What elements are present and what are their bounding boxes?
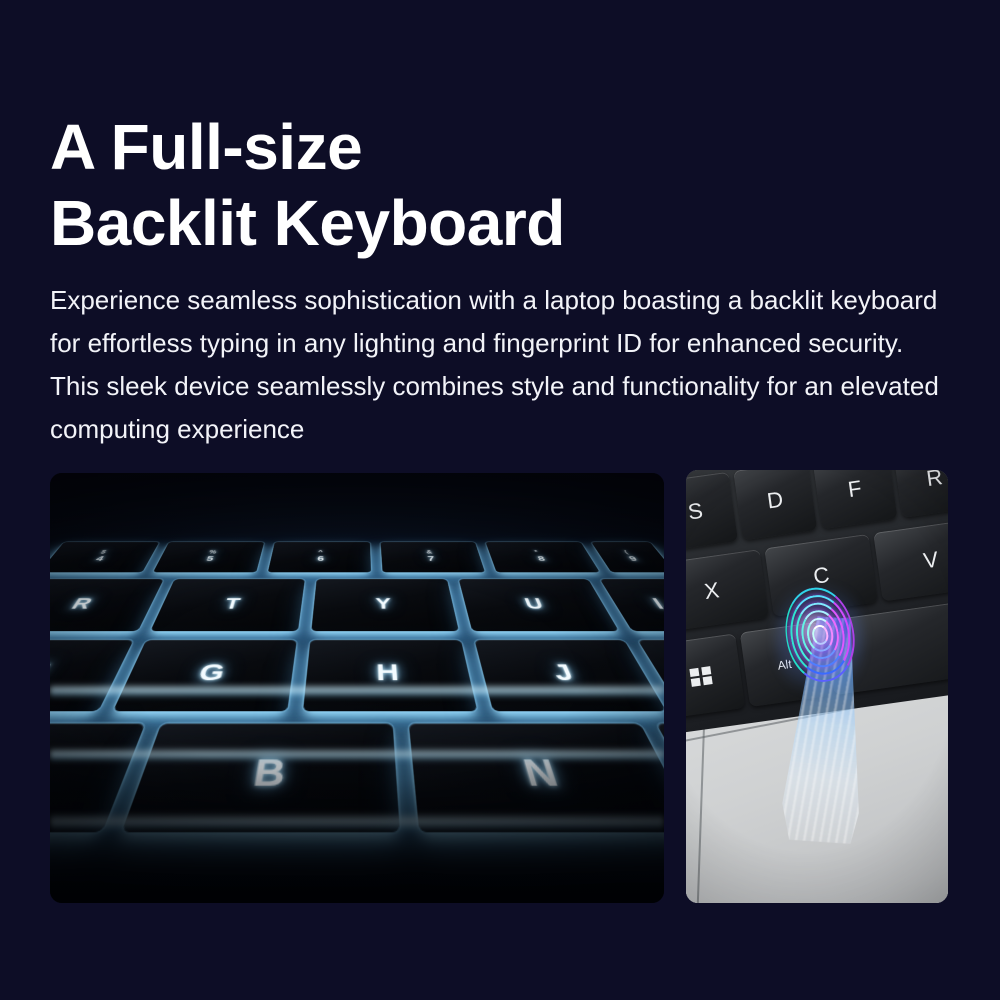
key-glyph: X: [703, 579, 721, 603]
fp-key-d: D: [732, 470, 816, 540]
keyboard-number-row: $4 %5 ^6 &7: [50, 541, 664, 572]
key-u: U: [458, 579, 619, 631]
key-glyph: C: [811, 563, 830, 587]
key-base-symbol: 5: [205, 555, 215, 563]
trackpad-seam-line: [693, 724, 704, 903]
page-title: A Full-size Backlit Keyboard: [50, 109, 810, 261]
key-glyph: S: [686, 500, 704, 524]
key-glyph: T: [223, 596, 242, 611]
keyboard-home-letter-row: F G H J K: [50, 640, 664, 711]
key-m: M: [657, 723, 664, 832]
key-b: B: [122, 723, 401, 832]
key-f: F: [50, 640, 133, 711]
fp-key-v: V: [873, 518, 948, 602]
key-glyph: (9: [624, 550, 639, 562]
key-glyph: U: [522, 596, 545, 611]
key-shifted-symbol: ^: [318, 550, 325, 554]
key-glyph: I: [649, 596, 664, 611]
key-h: H: [303, 640, 477, 711]
key-5: %5: [153, 541, 264, 572]
key-7: &7: [380, 541, 485, 572]
key-glyph: H: [376, 661, 400, 685]
key-glyph: J: [550, 661, 577, 685]
fp-key-f: F: [812, 470, 896, 529]
key-y: Y: [311, 579, 458, 631]
key-9: (9: [591, 541, 664, 572]
key-g: G: [114, 640, 297, 711]
key-glyph: B: [251, 754, 288, 793]
key-j: J: [474, 640, 664, 711]
key-base-symbol: 7: [427, 555, 435, 563]
backlit-keyboard-photo: $4 %5 ^6 &7: [50, 473, 664, 903]
key-glyph: G: [196, 661, 227, 685]
fp-key-s: S: [686, 472, 737, 552]
key-base-symbol: 4: [94, 555, 106, 563]
key-shifted-symbol: *: [534, 550, 543, 554]
fp-key-x: X: [686, 549, 768, 633]
key-glyph: ^6: [317, 550, 325, 562]
key-4: $4: [50, 541, 159, 572]
key-r: R: [50, 579, 163, 631]
key-v: V: [50, 723, 145, 832]
key-shifted-symbol: &: [426, 550, 433, 554]
keyboard-bottom-letter-row: V B N M: [50, 723, 664, 832]
description-paragraph: Experience seamless sophistication with …: [50, 279, 950, 451]
keyboard-top-letter-row: R T Y U I: [50, 579, 664, 631]
key-glyph: &7: [426, 550, 435, 562]
fp-key-windows: [686, 634, 745, 720]
key-glyph: V: [922, 548, 940, 572]
fingerprint-reader-photo: S D F R X C V Alt: [686, 470, 948, 903]
key-glyph: D: [765, 489, 784, 513]
key-glyph: F: [50, 661, 53, 685]
key-glyph: %5: [205, 550, 217, 562]
key-base-symbol: 9: [627, 555, 639, 563]
key-glyph: N: [519, 754, 562, 793]
key-t: T: [151, 579, 305, 631]
key-n: N: [409, 723, 664, 832]
keyboard-deck: $4 %5 ^6 &7: [50, 538, 664, 903]
keyboard-scene: $4 %5 ^6 &7: [50, 473, 664, 903]
key-k: K: [638, 640, 664, 711]
key-base-symbol: 6: [317, 555, 324, 563]
key-base-symbol: 8: [536, 555, 547, 563]
key-glyph: Alt: [776, 658, 792, 672]
key-glyph: F: [846, 477, 862, 501]
fingerprint-scene: S D F R X C V Alt: [686, 470, 948, 903]
key-glyph: $4: [94, 550, 109, 562]
key-8: *8: [486, 541, 600, 572]
key-glyph: R: [925, 470, 944, 490]
key-glyph: R: [69, 596, 96, 611]
fp-key-r: R: [892, 470, 948, 518]
key-shifted-symbol: $: [99, 550, 109, 554]
key-shifted-symbol: %: [208, 550, 217, 554]
key-glyph: *8: [534, 550, 547, 562]
key-glyph: Y: [375, 596, 391, 611]
key-shifted-symbol: (: [624, 550, 634, 554]
key-6: ^6: [268, 541, 371, 572]
promo-panel: A Full-size Backlit Keyboard Experience …: [0, 0, 1000, 1000]
windows-icon: [689, 666, 712, 687]
